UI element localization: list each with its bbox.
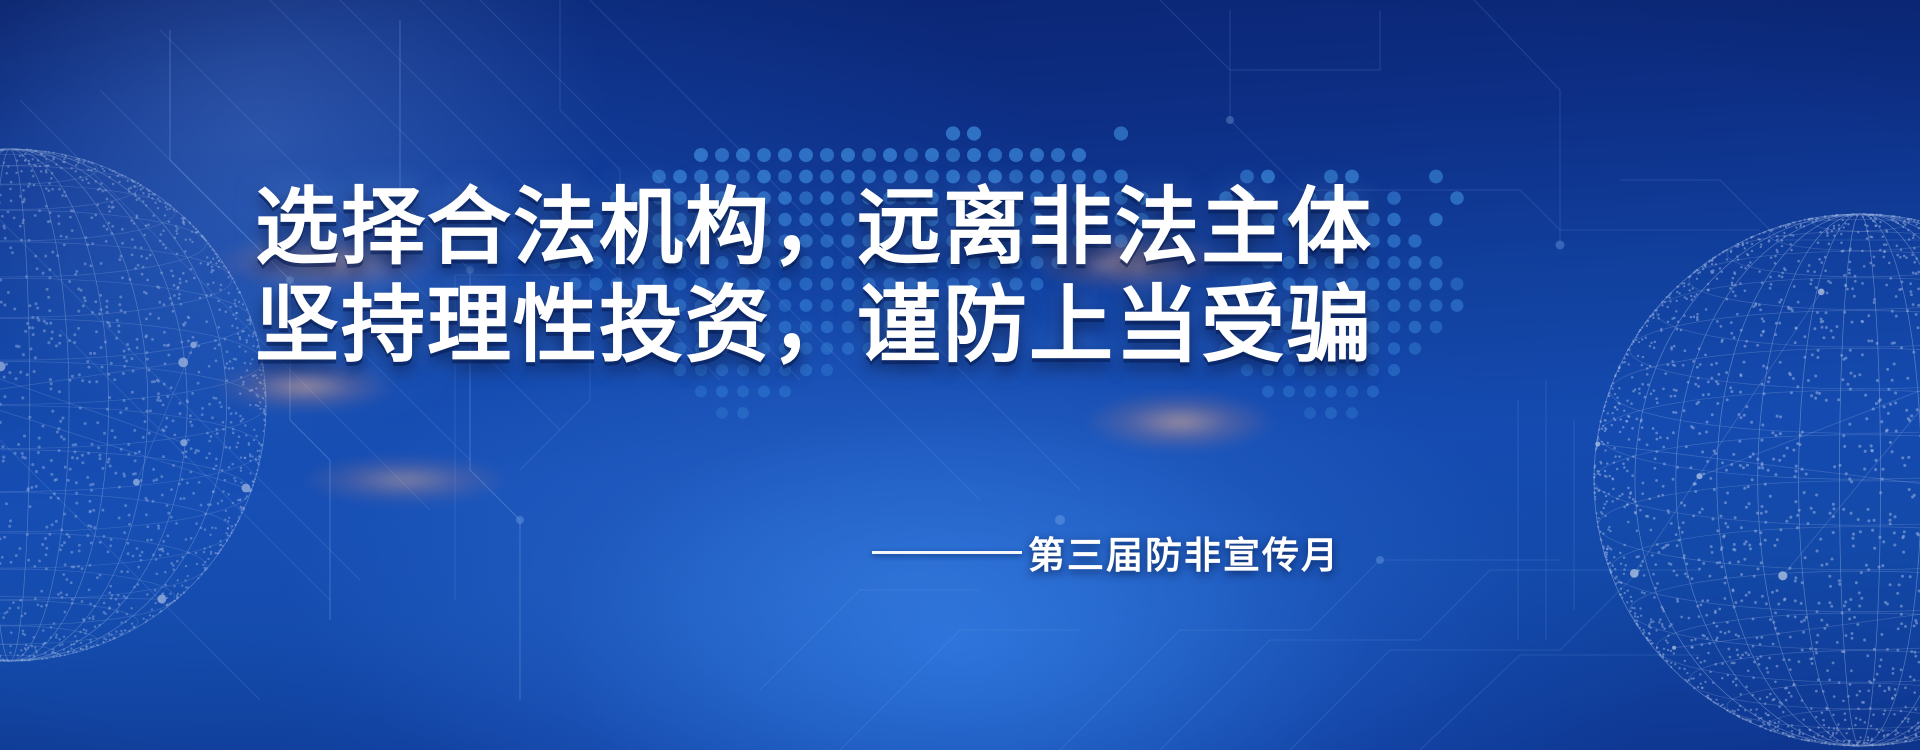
headline-line-2: 坚持理性投资，谨防上当受骗 (255, 276, 1375, 374)
headline-block: 选择合法机构，远离非法主体 坚持理性投资，谨防上当受骗 (255, 178, 1375, 374)
headline-line-1: 选择合法机构，远离非法主体 (255, 178, 1375, 276)
attribution-dash-rule (872, 551, 1022, 554)
right-globe-decor (1590, 210, 1920, 750)
promo-banner: 选择合法机构，远离非法主体 坚持理性投资，谨防上当受骗 第三届防非宣传月 (0, 0, 1920, 750)
attribution-text: 第三届防非宣传月 (1028, 525, 1340, 579)
attribution-block: 第三届防非宣传月 (872, 525, 1340, 579)
left-globe-decor (0, 145, 270, 665)
